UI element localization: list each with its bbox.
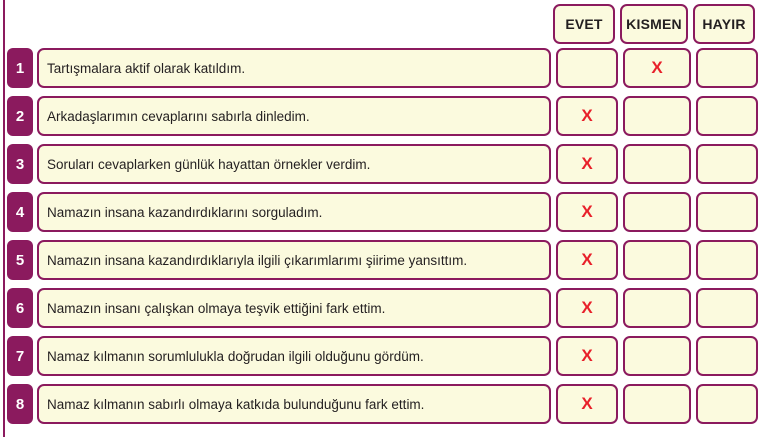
checkbox-cell-hayir[interactable] bbox=[696, 96, 758, 136]
checkbox-cell-kismen[interactable]: X bbox=[623, 48, 691, 88]
self-assessment-checklist: EVET KISMEN HAYIR 1 Tartışmalara aktif o… bbox=[0, 0, 767, 437]
checkbox-cell-kismen[interactable] bbox=[623, 192, 691, 232]
row-number-badge: 7 bbox=[7, 336, 33, 376]
checkbox-cell-hayir[interactable] bbox=[696, 240, 758, 280]
column-header-evet: EVET bbox=[553, 4, 615, 44]
checkbox-cell-evet[interactable]: X bbox=[556, 96, 618, 136]
row-number-badge: 1 bbox=[7, 48, 33, 88]
checkbox-cell-evet[interactable]: X bbox=[556, 384, 618, 424]
checkbox-cell-kismen[interactable] bbox=[623, 144, 691, 184]
row-number-badge: 4 bbox=[7, 192, 33, 232]
table-row: 7 Namaz kılmanın sorumlulukla doğrudan i… bbox=[7, 336, 767, 376]
checkbox-cell-hayir[interactable] bbox=[696, 336, 758, 376]
row-number-badge: 2 bbox=[7, 96, 33, 136]
checkbox-cell-hayir[interactable] bbox=[696, 384, 758, 424]
checkbox-cell-hayir[interactable] bbox=[696, 192, 758, 232]
checkbox-cell-evet[interactable]: X bbox=[556, 240, 618, 280]
checkbox-cell-kismen[interactable] bbox=[623, 336, 691, 376]
table-row: 3 Soruları cevaplarken günlük hayattan ö… bbox=[7, 144, 767, 184]
checkbox-cell-evet[interactable] bbox=[556, 48, 618, 88]
statement-text: Tartışmalara aktif olarak katıldım. bbox=[37, 48, 551, 88]
checkbox-cell-kismen[interactable] bbox=[623, 288, 691, 328]
statement-text: Arkadaşlarımın cevaplarını sabırla dinle… bbox=[37, 96, 551, 136]
checkbox-cell-evet[interactable]: X bbox=[556, 144, 618, 184]
checkbox-cell-hayir[interactable] bbox=[696, 144, 758, 184]
column-header-hayir: HAYIR bbox=[693, 4, 755, 44]
checkbox-cell-kismen[interactable] bbox=[623, 240, 691, 280]
statement-text: Namazın insanı çalışkan olmaya teşvik et… bbox=[37, 288, 551, 328]
table-row: 6 Namazın insanı çalışkan olmaya teşvik … bbox=[7, 288, 767, 328]
table-row: 4 Namazın insana kazandırdıklarını sorgu… bbox=[7, 192, 767, 232]
statement-text: Namaz kılmanın sorumlulukla doğrudan ilg… bbox=[37, 336, 551, 376]
checkbox-cell-hayir[interactable] bbox=[696, 48, 758, 88]
row-number-badge: 3 bbox=[7, 144, 33, 184]
statement-text: Namazın insana kazandırdıklarını sorgula… bbox=[37, 192, 551, 232]
row-number-badge: 5 bbox=[7, 240, 33, 280]
table-row: 1 Tartışmalara aktif olarak katıldım. X bbox=[7, 48, 767, 88]
checkbox-cell-evet[interactable]: X bbox=[556, 336, 618, 376]
table-header-row: EVET KISMEN HAYIR bbox=[7, 0, 767, 48]
table-row: 2 Arkadaşlarımın cevaplarını sabırla din… bbox=[7, 96, 767, 136]
table-row: 5 Namazın insana kazandırdıklarıyla ilgi… bbox=[7, 240, 767, 280]
column-header-kismen: KISMEN bbox=[620, 4, 688, 44]
checkbox-cell-hayir[interactable] bbox=[696, 288, 758, 328]
checkbox-cell-kismen[interactable] bbox=[623, 96, 691, 136]
checkbox-cell-evet[interactable]: X bbox=[556, 192, 618, 232]
header-statement-spacer bbox=[7, 4, 553, 44]
statement-text: Namaz kılmanın sabırlı olmaya katkıda bu… bbox=[37, 384, 551, 424]
statement-text: Namazın insana kazandırdıklarıyla ilgili… bbox=[37, 240, 551, 280]
statement-text: Soruları cevaplarken günlük hayattan örn… bbox=[37, 144, 551, 184]
row-number-badge: 6 bbox=[7, 288, 33, 328]
checkbox-cell-evet[interactable]: X bbox=[556, 288, 618, 328]
checkbox-cell-kismen[interactable] bbox=[623, 384, 691, 424]
table-row: 8 Namaz kılmanın sabırlı olmaya katkıda … bbox=[7, 384, 767, 424]
row-number-badge: 8 bbox=[7, 384, 33, 424]
